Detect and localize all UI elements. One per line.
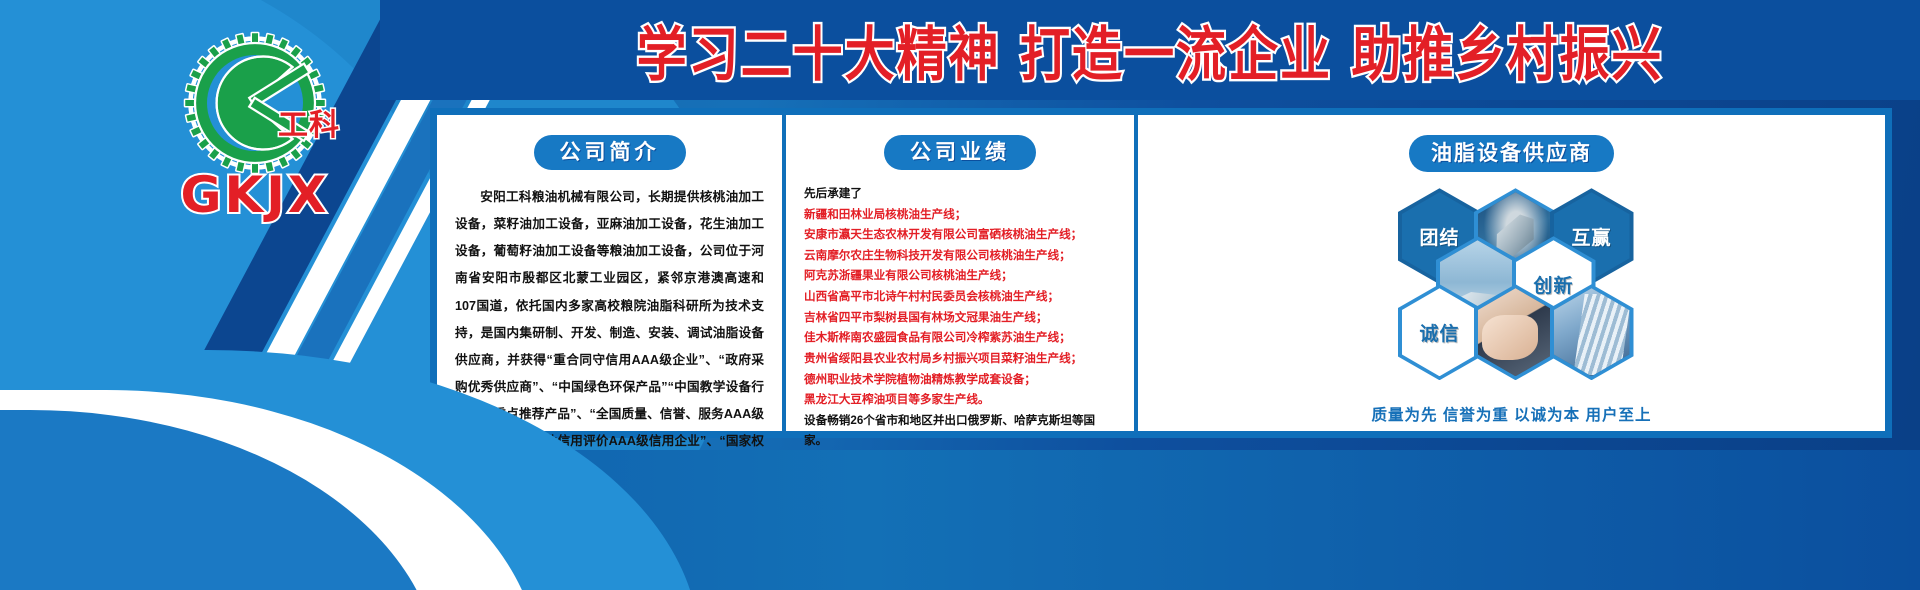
- hexagon-label: 互赢: [1571, 223, 1611, 250]
- performance-list-item: 山西省高平市北诗午村村民委员会核桃油生产线；: [804, 287, 1116, 308]
- page-title: 学习二十大精神 打造一流企业 助推乡村振兴: [637, 8, 1664, 93]
- supplier-slogan: 质量为先 信誉为重 以诚为本 用户至上: [1138, 403, 1885, 425]
- performance-tail-line: 设备畅销26个省市和地区并出口俄罗斯、哈萨克斯坦等国家。: [804, 411, 1116, 452]
- panel-company-profile: 公司简介 安阳工科粮油机械有限公司，长期提供核桃油加工设备，菜籽油加工设备，亚麻…: [437, 115, 782, 431]
- performance-list-item: 吉林省四平市梨树县国有林场文冠果油生产线；: [804, 308, 1116, 329]
- poster-canvas: 学习二十大精神 打造一流企业 助推乡村振兴 工科: [0, 0, 1920, 590]
- performance-list-item: 云南摩尔农庄生物科技开发有限公司核桃油生产线；: [804, 246, 1116, 267]
- performance-intro: 先后承建了: [804, 184, 1116, 204]
- content-board: 公司简介 安阳工科粮油机械有限公司，长期提供核桃油加工设备，菜籽油加工设备，亚麻…: [430, 108, 1892, 438]
- hexagon-cluster: 团结互赢创新诚信: [1156, 186, 1867, 382]
- performance-list-item: 贵州省绥阳县农业农村局乡村振兴项目菜籽油生产线；: [804, 349, 1116, 370]
- performance-list-item: 安康市瀛天生态农林开发有限公司富硒核桃油生产线；: [804, 225, 1116, 246]
- panel-supplier: 油脂设备供应商 团结互赢创新诚信 质量为先 信誉为重 以诚为本 用户至上: [1134, 115, 1885, 431]
- company-logo: 工科 GKJX: [120, 28, 390, 218]
- performance-list-item: 新疆和田林业局核桃油生产线；: [804, 205, 1116, 226]
- panel-company-performance: 公司业绩 先后承建了 新疆和田林业局核桃油生产线；安康市瀛天生态农林开发有限公司…: [782, 115, 1134, 431]
- panel-heading-company-profile: 公司简介: [534, 135, 686, 170]
- header-title-bar: 学习二十大精神 打造一流企业 助推乡村振兴: [380, 0, 1920, 100]
- performance-list-item: 德州职业技术学院植物油精炼教学成套设备；: [804, 370, 1116, 391]
- hexagon-label: 诚信: [1419, 319, 1459, 346]
- hexagon-label: 团结: [1419, 223, 1459, 250]
- hexagon-label: 创新: [1533, 271, 1573, 298]
- gear-logo-icon: 工科: [180, 28, 330, 178]
- performance-list-item: 阿克苏浙疆果业有限公司核桃油生产线；: [804, 266, 1116, 287]
- footer-bar: [0, 450, 1920, 590]
- hexagon-inner: 诚信: [1402, 288, 1478, 376]
- hexagon-inner: [1478, 288, 1554, 376]
- handshake-photo: [1478, 288, 1554, 376]
- performance-list: 新疆和田林业局核桃油生产线；安康市瀛天生态农林开发有限公司富硒核桃油生产线；云南…: [804, 205, 1116, 411]
- hexagon-inner: [1554, 288, 1630, 376]
- panel-heading-supplier: 油脂设备供应商: [1409, 135, 1614, 172]
- performance-list-item: 佳木斯桦南农盛园食品有限公司冷榨紫苏油生产线；: [804, 328, 1116, 349]
- city-buildings-photo: [1554, 288, 1630, 376]
- performance-list-item: 黑龙江大豆榨油项目等多家生产线。: [804, 390, 1116, 411]
- logo-chinese-name: 工科: [278, 100, 340, 144]
- panel-heading-company-performance: 公司业绩: [884, 135, 1036, 170]
